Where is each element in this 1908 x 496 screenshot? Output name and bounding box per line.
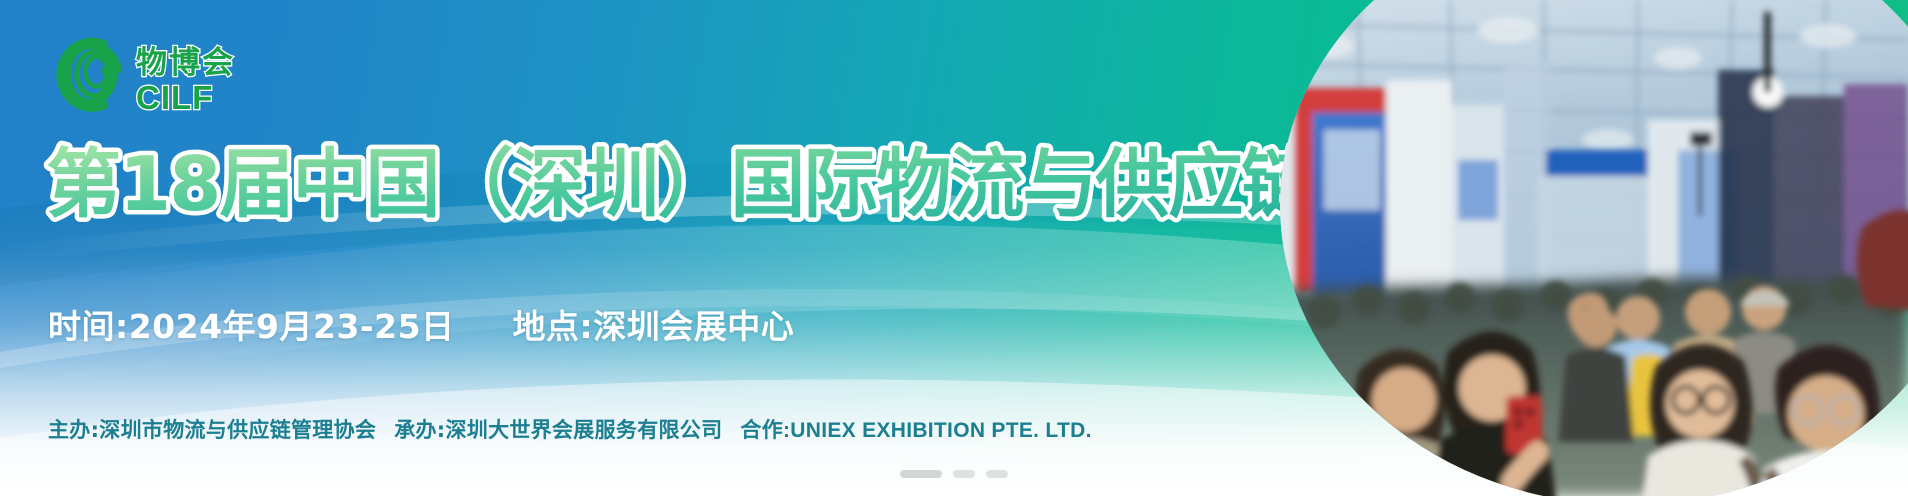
logo-name-cn: 物博会: [136, 48, 235, 79]
event-venue: 地点:深圳会展中心: [513, 300, 795, 348]
carousel-dot-1[interactable]: [900, 470, 942, 478]
logo-name-en: CILF: [136, 81, 235, 114]
cilf-spiral-logo-icon: [52, 35, 130, 113]
carousel-pagination[interactable]: [900, 470, 1008, 478]
event-date: 时间:2024年9月23-25日: [48, 300, 455, 348]
credit-organizer: 承办:深圳大世界会展服务有限公司: [394, 414, 722, 444]
event-banner: 物博会 CILF 第18届中国（深圳）国际物流与供应链博览会 第18届中国（深圳…: [0, 0, 1908, 496]
headline-title: 第18届中国（深圳）国际物流与供应链博览会 第18届中国（深圳）国际物流与供应链…: [46, 138, 1246, 230]
carousel-dot-2[interactable]: [953, 470, 975, 478]
event-info-line: 时间:2024年9月23-25日 地点:深圳会展中心: [48, 300, 794, 348]
carousel-dot-3[interactable]: [986, 470, 1008, 478]
credit-partner: 合作:UNIEX EXHIBITION PTE. LTD.: [740, 414, 1091, 444]
credit-host: 主办:深圳市物流与供应链管理协会: [48, 414, 376, 444]
cilf-logo: 物博会 CILF: [52, 28, 272, 120]
credits-line: 主办:深圳市物流与供应链管理协会 承办:深圳大世界会展服务有限公司 合作:UNI…: [48, 414, 1092, 444]
